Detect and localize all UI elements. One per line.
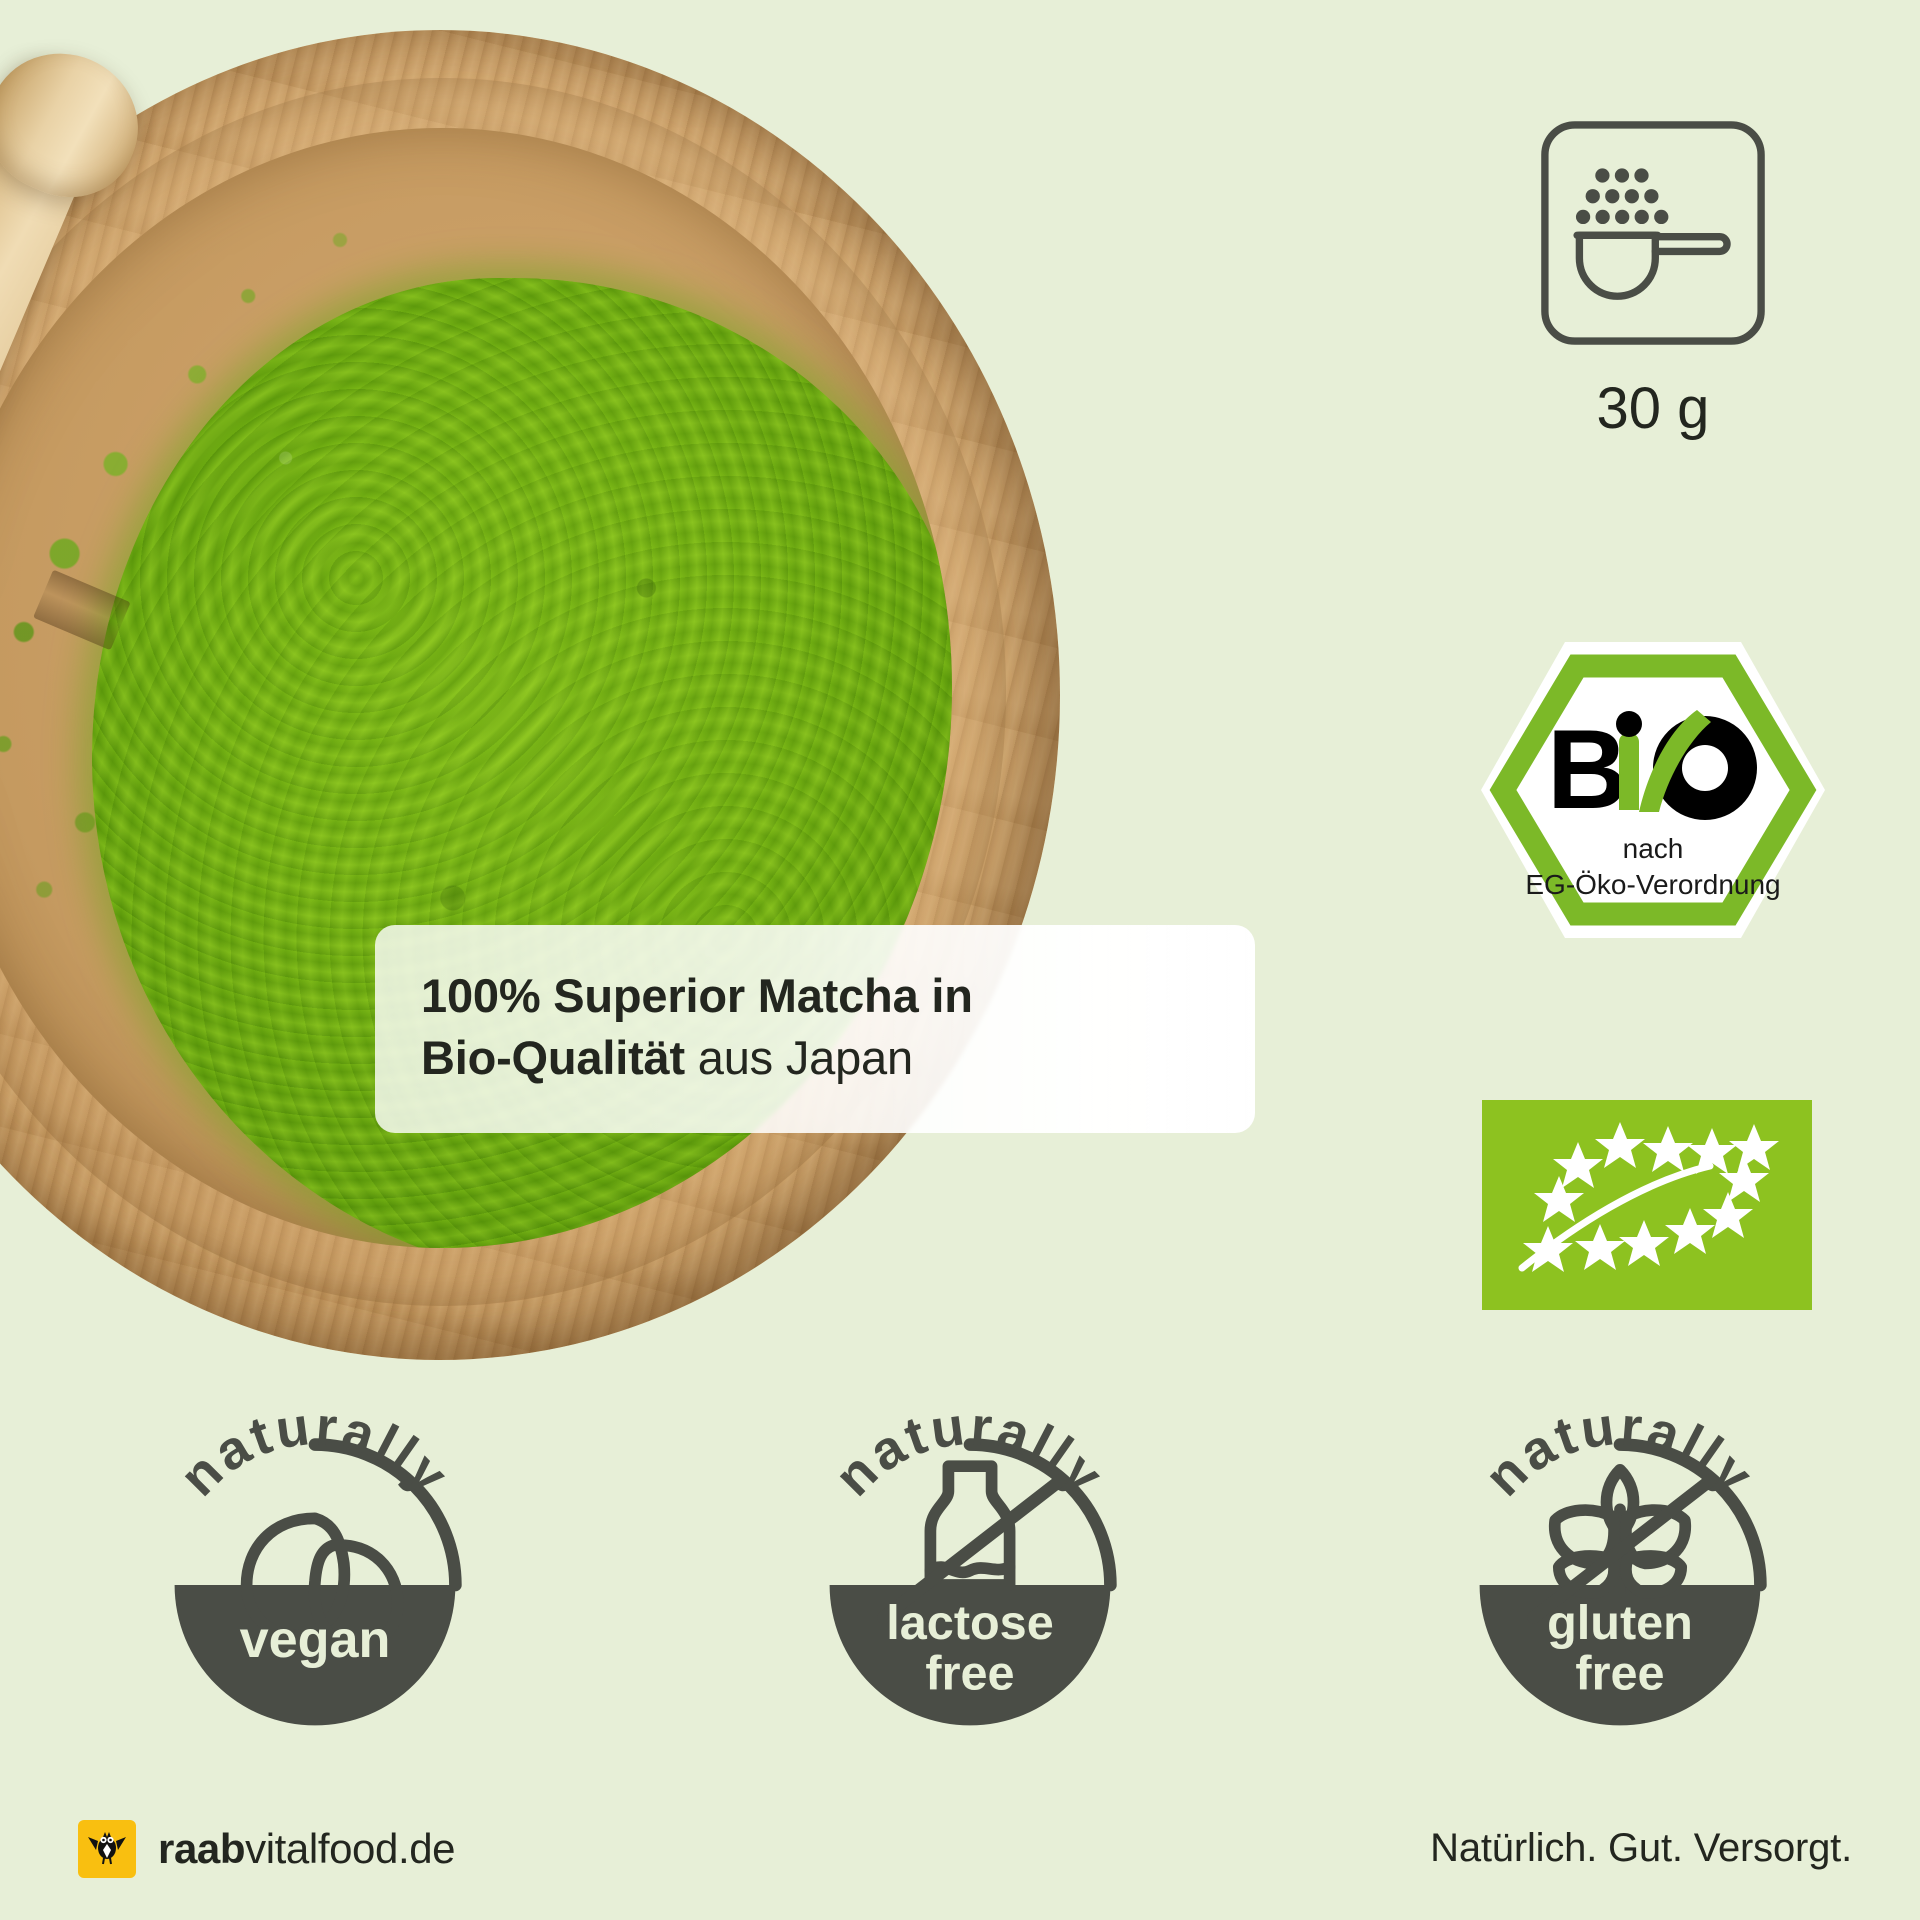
brand-wordmark: raabvitalfood.de [158, 1825, 455, 1873]
product-photo [0, 30, 1060, 1360]
headline-strong-line2: Bio-Qualität [421, 1031, 685, 1084]
headline-banner: 100% Superior Matcha in Bio-Qualität aus… [375, 925, 1255, 1133]
brand-claim: Natürlich. Gut. Versorgt. [1430, 1826, 1852, 1871]
badge-arc-text: naturally [1474, 1405, 1767, 1507]
headline-light-line2: aus Japan [685, 1031, 913, 1084]
eu-organic-logo [1482, 1100, 1812, 1310]
badge-arc-text: naturally [824, 1405, 1117, 1507]
brand-name-bold: raab [158, 1825, 245, 1872]
naturally-lactose-free-icon: naturally lactose free [790, 1405, 1150, 1765]
brand-logo[interactable]: raabvitalfood.de [78, 1820, 455, 1878]
badge-naturally-lactose-free: naturally lactose free [790, 1405, 1150, 1765]
eu-organic-euroleaf-icon [1482, 1100, 1812, 1310]
naturally-gluten-free-icon: naturally gluten free [1440, 1405, 1800, 1765]
german-bio-hexagon-seal-icon: B nach EG-Öko-Verordnung [1473, 630, 1833, 950]
badge-label-line1: gluten [1547, 1596, 1693, 1650]
headline-text: 100% Superior Matcha in Bio-Qualität aus… [421, 965, 1209, 1089]
brand-name-regular: vitalfood.de [245, 1825, 455, 1872]
badge-label-line2: free [925, 1646, 1014, 1700]
bio-seal: B nach EG-Öko-Verordnung [1473, 630, 1833, 955]
serving-size-block: 30 g [1503, 118, 1803, 442]
naturally-vegan-icon: naturally vegan [135, 1405, 495, 1765]
headline-strong-line1: 100% Superior Matcha in [421, 969, 973, 1022]
raab-bird-logo-icon [78, 1820, 136, 1878]
badge-label-line2: free [1575, 1646, 1664, 1700]
bio-sub-line2: EG-Öko-Verordnung [1525, 869, 1780, 900]
trust-badges-row: naturally vegan naturally [0, 1405, 1920, 1805]
badge-arc-text: naturally [169, 1405, 462, 1507]
badge-label-line1: vegan [240, 1611, 391, 1669]
measuring-scoop-icon [1538, 118, 1768, 348]
badge-naturally-vegan: naturally vegan [135, 1405, 495, 1765]
bio-letter-b: B [1547, 707, 1628, 832]
badge-naturally-gluten-free: naturally gluten free [1440, 1405, 1800, 1765]
serving-weight-label: 30 g [1503, 375, 1803, 442]
badge-label-line1: lactose [886, 1596, 1053, 1650]
bamboo-bowl [0, 30, 1060, 1360]
footer: raabvitalfood.de Natürlich. Gut. Versorg… [0, 1790, 1920, 1920]
bio-sub-line1: nach [1623, 833, 1684, 864]
